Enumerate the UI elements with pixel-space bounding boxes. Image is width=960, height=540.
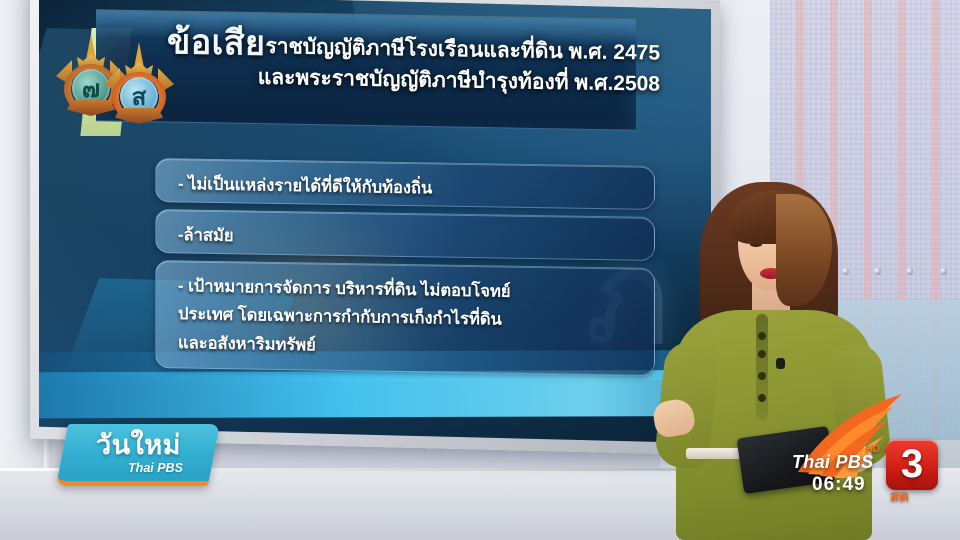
anchor-lapel-microphone — [776, 358, 785, 369]
hd-badge: HD — [866, 444, 879, 455]
anchor-dress-placket — [756, 314, 768, 420]
program-badge-title: วันใหม่ — [96, 432, 181, 459]
bullet-item-text: -ล้าสมัย — [178, 221, 638, 257]
title-lead-word: ข้อเสีย — [167, 23, 265, 63]
bullet-item-text: - ไม่เป็นแหล่งรายได้ที่ดีให้กับท้องถิ่น — [178, 170, 638, 206]
title-line-1: ข้อเสียราชบัญญัติภาษีโรงเรือนและที่ดิน พ… — [120, 21, 660, 71]
title-block: ข้อเสียราชบัญญัติภาษีโรงเรือนและที่ดิน พ… — [120, 21, 660, 97]
program-badge: วันใหม่ Thai PBS — [56, 424, 220, 486]
live-badge: สด — [890, 484, 909, 508]
anchor-dress-button — [758, 350, 766, 358]
channel-bug: Thai PBS 06:49 HD 3 สด — [790, 400, 960, 500]
anchor-dress-button — [758, 394, 766, 402]
anchor-dress-button — [758, 332, 766, 340]
channel-number: 3 — [901, 444, 923, 484]
emblem-base-icon — [115, 108, 163, 124]
network-name: Thai PBS — [792, 452, 873, 473]
anchor-dress-button — [758, 372, 766, 380]
broadcast-frame: ภ ข้อเสียราชบัญญัติภาษีโรงเรือนและที่ดิน… — [0, 0, 960, 540]
bullet-item-text: - เป้าหมายการจัดการ บริหารที่ดิน ไม่ตอบโ… — [178, 272, 638, 365]
royal-cypher-seal-blue-icon: ส — [108, 42, 170, 128]
bullet-list: - ไม่เป็นแหล่งรายได้ที่ดีให้กับท้องถิ่น … — [155, 162, 655, 379]
channel-3-logo: 3 — [886, 440, 938, 490]
program-badge-inner: วันใหม่ Thai PBS — [62, 424, 214, 481]
bullet-item: - เป้าหมายการจัดการ บริหารที่ดิน ไม่ตอบโ… — [155, 260, 655, 376]
program-badge-subtitle: Thai PBS — [128, 461, 183, 475]
on-screen-clock: 06:49 — [812, 474, 866, 496]
title-line-1-rest: ราชบัญญัติภาษีโรงเรือนและที่ดิน พ.ศ. 247… — [265, 35, 660, 65]
bullet-item: -ล้าสมัย — [155, 209, 655, 261]
bullet-item: - ไม่เป็นแหล่งรายได้ที่ดีให้กับท้องถิ่น — [155, 158, 655, 210]
